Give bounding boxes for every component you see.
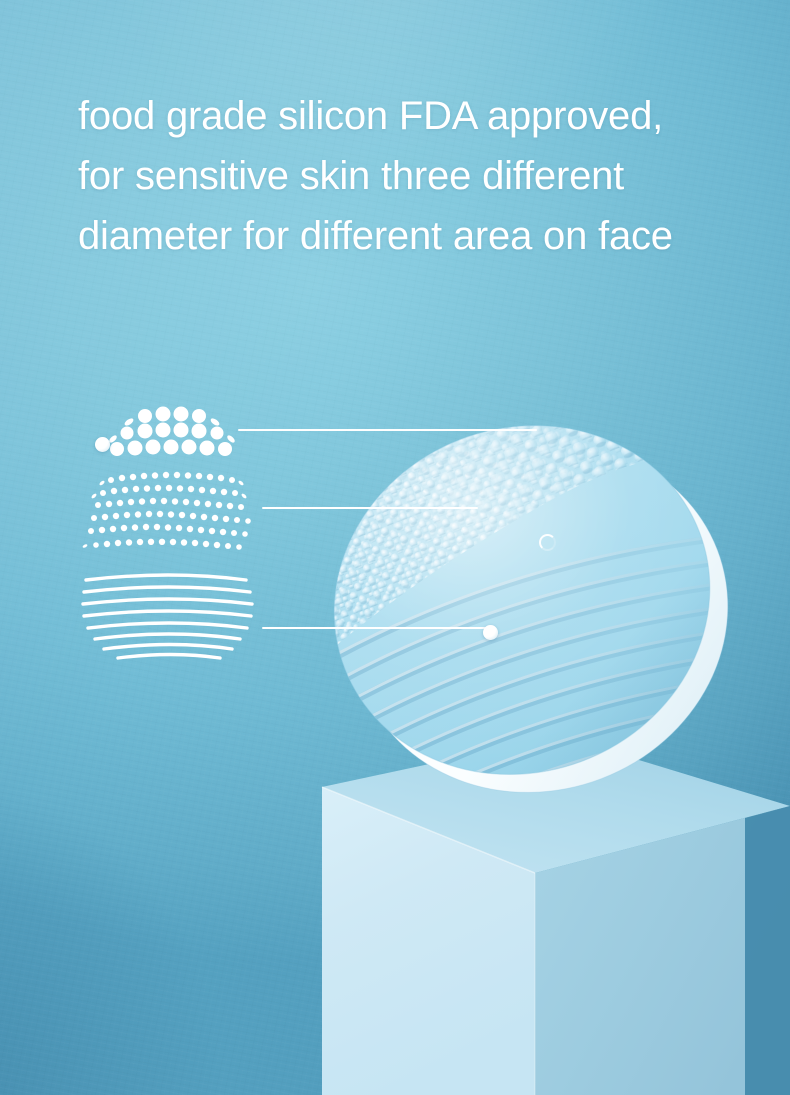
leader-dot-large-nubs [95,437,110,452]
feature-callouts [0,0,790,1095]
large-dots-dome-icon [100,404,240,460]
leader-line-wave-ridges [262,627,490,629]
fine-dots-grid-icon [74,466,266,558]
wavy-lines-icon [74,566,270,662]
lower-product-marker [483,625,498,640]
product-feature-banner: food grade silicon FDA approved, for sen… [0,0,790,1095]
leader-line-fine-dots [262,507,478,509]
upper-product-marker [539,534,556,551]
leader-line-large-nubs [238,429,537,431]
